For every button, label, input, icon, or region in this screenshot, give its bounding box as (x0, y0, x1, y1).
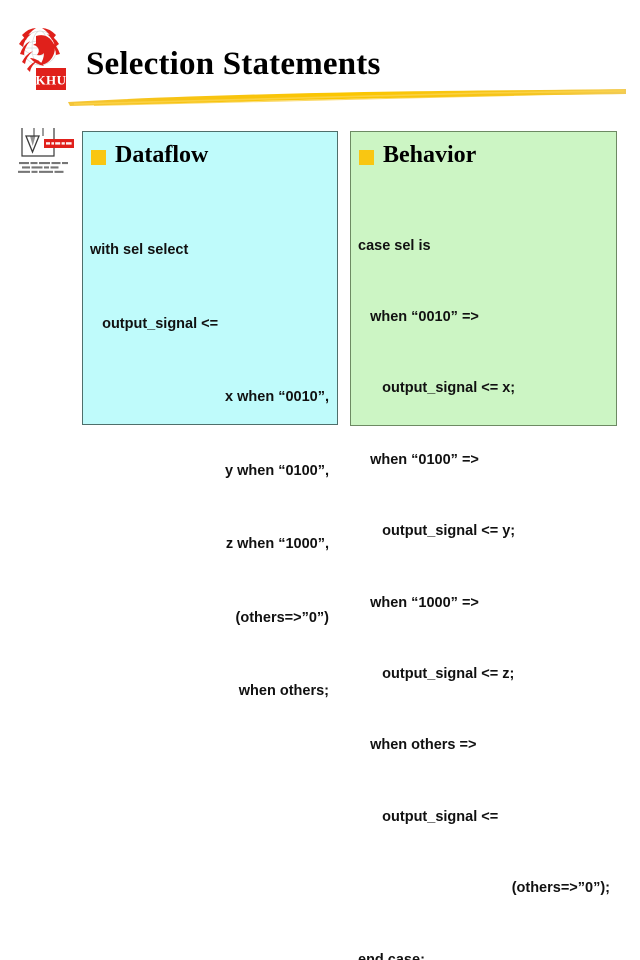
panel-behavior-heading: Behavior (359, 141, 476, 169)
department-logo (14, 122, 80, 180)
code-line: end case; (358, 949, 610, 960)
code-line: (others=>”0”); (358, 877, 610, 901)
panel-dataflow-title: Dataflow (115, 141, 208, 169)
code-line: z when “1000”, (90, 532, 329, 557)
code-line: output_signal <= x; (358, 377, 610, 401)
code-line: when “0100” => (358, 449, 610, 473)
title-underline-brush (64, 86, 630, 108)
code-line: when “0010” => (358, 306, 610, 330)
code-line: case sel is (358, 235, 610, 259)
code-line: when “1000” => (358, 592, 610, 616)
slide-canvas: KHU Selection Statements (0, 0, 640, 480)
code-line: when others => (358, 734, 610, 758)
code-line: output_signal <= y; (358, 520, 610, 544)
code-line: output_signal <= (358, 806, 610, 830)
code-line: y when “0100”, (90, 459, 329, 484)
code-line: output_signal <= z; (358, 663, 610, 687)
code-line: (others=>”0”) (90, 606, 329, 631)
svg-text:KHU: KHU (35, 73, 66, 88)
code-line: output_signal <= (90, 312, 329, 337)
khu-logo: KHU (16, 24, 78, 92)
panel-dataflow-heading: Dataflow (91, 141, 208, 169)
page-title: Selection Statements (86, 44, 381, 84)
code-line: with sel select (90, 238, 329, 263)
code-block-dataflow: with sel select output_signal <= x when … (83, 189, 337, 753)
bullet-square-icon (359, 150, 374, 165)
panel-behavior-title: Behavior (383, 141, 476, 169)
panel-dataflow: Dataflow with sel select output_signal <… (82, 131, 338, 425)
code-line: x when “0010”, (90, 385, 329, 410)
code-block-behavior: case sel is when “0010” => output_signal… (351, 187, 616, 960)
code-line: when others; (90, 679, 329, 704)
panel-behavior: Behavior case sel is when “0010” => outp… (350, 131, 617, 426)
bullet-square-icon (91, 150, 106, 165)
